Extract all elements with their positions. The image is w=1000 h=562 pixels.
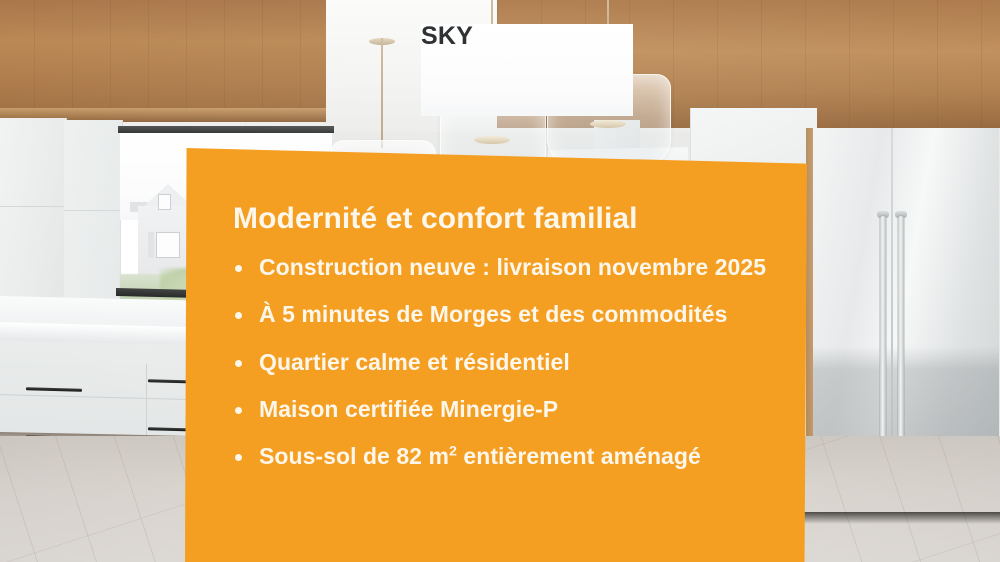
bullet-dot-icon (235, 265, 242, 272)
refrigerator-floor-shadow (800, 512, 1000, 524)
panel-headline: Modernité et confort familial (233, 202, 777, 235)
list-item-label-suffix: entièrement aménagé (457, 443, 701, 469)
list-item-label: À 5 minutes de Morges et des commodités (259, 301, 727, 327)
real-estate-slide: IMMOSKY Modernité et confort familial Co… (0, 0, 1000, 562)
bullet-dot-icon (235, 454, 242, 461)
list-item: Maison certifiée Minergie-P (233, 397, 777, 422)
brand-name-sky: SKY (421, 24, 633, 116)
list-item-label: Maison certifiée Minergie-P (259, 396, 558, 422)
bullet-dot-icon (235, 360, 242, 367)
list-item-superscript: 2 (449, 444, 457, 460)
list-item-label: Construction neuve : livraison novembre … (259, 254, 766, 280)
window-header-trim (118, 126, 334, 133)
list-item: À 5 minutes de Morges et des commodités (233, 302, 777, 327)
list-item: Construction neuve : livraison novembre … (233, 255, 777, 280)
bullet-dot-icon (235, 407, 242, 414)
brand-name: IMMOSKY (452, 24, 521, 49)
wood-cabinet-upper-left (0, 0, 326, 118)
feature-list-panel: Modernité et confort familial Constructi… (185, 140, 807, 562)
feature-bullet-list: Construction neuve : livraison novembre … (233, 255, 777, 469)
list-item: Quartier calme et résidentiel (233, 350, 777, 375)
list-item-label: Quartier calme et résidentiel (259, 349, 570, 375)
list-item-label: Sous-sol de 82 m (259, 443, 449, 469)
bullet-dot-icon (235, 312, 242, 319)
list-item: Sous-sol de 82 m2 entièrement aménagé (233, 444, 777, 469)
immosky-logo: IMMOSKY (421, 24, 521, 49)
